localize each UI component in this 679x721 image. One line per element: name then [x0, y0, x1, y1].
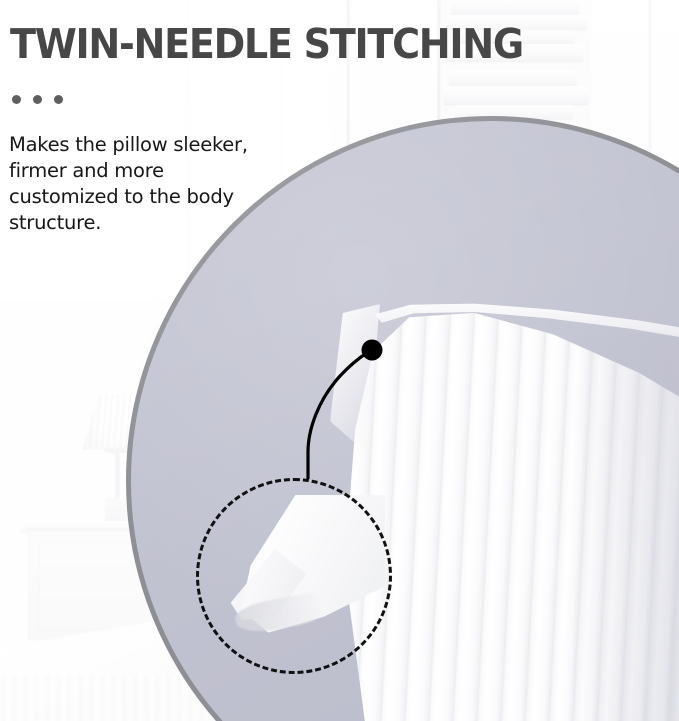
body-copy: Makes the pillow sleeker, firmer and mor… [9, 132, 271, 236]
pillow-side-shadow [570, 340, 679, 721]
divider-dot [54, 95, 63, 104]
divider-dot [12, 95, 21, 104]
product-feature-image: TWIN-NEEDLE STITCHING Makes the pillow s… [0, 0, 679, 721]
page-title: TWIN-NEEDLE STITCHING [10, 24, 523, 65]
three-dots-divider [12, 95, 63, 104]
divider-dot [33, 95, 42, 104]
dashed-zoom-circle [196, 478, 392, 674]
